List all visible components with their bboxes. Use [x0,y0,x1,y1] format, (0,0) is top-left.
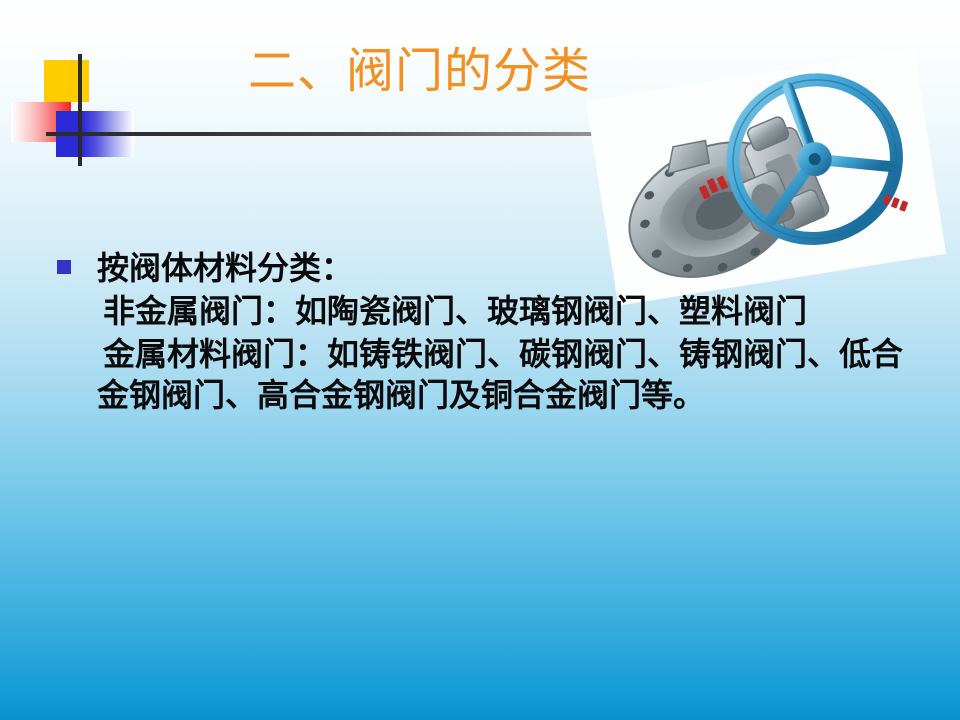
vertical-rule [78,54,82,166]
paragraph-metal-valves: 金属材料阀门：如铸铁阀门、碳钢阀门、铸钢阀门、低合金钢阀门、高合金钢阀门及铜合金… [97,334,932,416]
content-block: 按阀体材料分类： 非金属阀门：如陶瓷阀门、玻璃钢阀门、塑料阀门 金属材料阀门：如… [52,248,932,416]
decoration-group [0,0,300,200]
page-title: 二、阀门的分类 [248,44,591,98]
bullet-heading-text: 按阀体材料分类： [97,248,932,289]
square-bullet-icon [57,260,71,274]
bullet-item: 按阀体材料分类： [52,248,932,289]
yellow-square-shape [44,60,89,102]
slide-canvas: 二、阀门的分类 [0,0,960,720]
paragraph-nonmetal-valves: 非金属阀门：如陶瓷阀门、玻璃钢阀门、塑料阀门 [97,291,932,332]
